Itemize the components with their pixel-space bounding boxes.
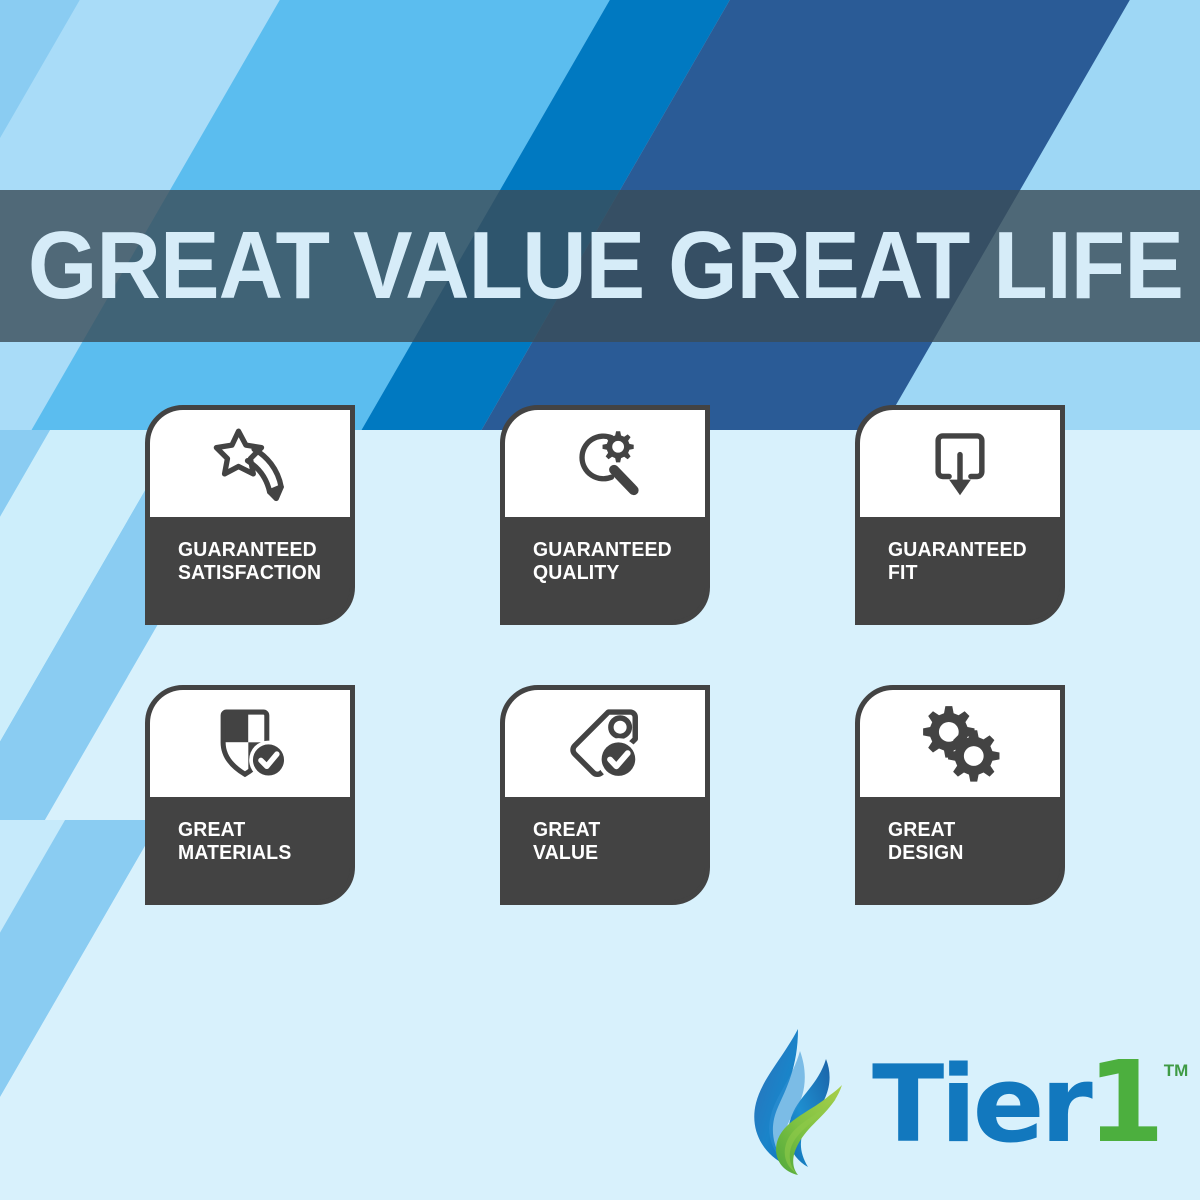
badge-label-panel: GUARANTEED FIT	[860, 517, 1060, 620]
badge-label-line-1: GREAT	[888, 819, 1055, 842]
magnifier-gear-icon	[564, 423, 646, 505]
badge-label-line-2: DESIGN	[888, 842, 1055, 865]
badge-icon-panel	[505, 410, 705, 517]
badge-great-design[interactable]: GREAT DESIGN	[855, 685, 1065, 905]
trademark-symbol: TM	[1164, 1061, 1189, 1081]
badge-guaranteed-satisfaction[interactable]: GUARANTEED SATISFACTION	[145, 405, 355, 625]
flame-leaf-icon	[738, 1023, 868, 1183]
badge-label-panel: GREAT VALUE	[505, 797, 705, 900]
badge-icon-panel	[860, 690, 1060, 797]
two-gears-icon	[917, 701, 1003, 787]
logo-wordmark: Tier 1 TM	[872, 1047, 1188, 1159]
badge-label-panel: GREAT MATERIALS	[150, 797, 350, 900]
badge-label-line-2: VALUE	[533, 842, 700, 865]
badge-guaranteed-fit[interactable]: GUARANTEED FIT	[855, 405, 1065, 625]
badge-label-line-1: GUARANTEED	[533, 539, 700, 562]
badge-label-line-2: SATISFACTION	[178, 562, 345, 585]
download-into-box-icon	[921, 425, 999, 503]
badge-label-panel: GREAT DESIGN	[860, 797, 1060, 900]
benefits-badge-grid: GUARANTEED SATISFACTION GU	[145, 405, 1065, 905]
tier1-logo[interactable]: Tier 1 TM	[738, 1022, 1168, 1184]
badge-label-line-1: GREAT	[178, 819, 345, 842]
page-title: GREAT VALUE GREAT LIFE	[0, 218, 1183, 314]
logo-brand-word: Tier	[872, 1052, 1089, 1158]
badge-great-materials[interactable]: GREAT MATERIALS	[145, 685, 355, 905]
poster-canvas: GREAT VALUE GREAT LIFE GUARANTEED SATISF…	[0, 0, 1200, 1200]
badge-label-panel: GUARANTEED SATISFACTION	[150, 517, 350, 620]
badge-great-value[interactable]: GREAT VALUE	[500, 685, 710, 905]
badge-label-line-2: MATERIALS	[178, 842, 345, 865]
badge-icon-panel	[150, 410, 350, 517]
badge-label-line-1: GUARANTEED	[888, 539, 1055, 562]
headline-banner: GREAT VALUE GREAT LIFE	[0, 190, 1200, 342]
badge-icon-panel	[860, 410, 1060, 517]
shooting-star-icon	[209, 423, 291, 505]
shield-check-icon	[208, 702, 292, 786]
badge-label-line-2: QUALITY	[533, 562, 700, 585]
badge-guaranteed-quality[interactable]: GUARANTEED QUALITY	[500, 405, 710, 625]
badge-label-line-1: GUARANTEED	[178, 539, 345, 562]
badge-icon-panel	[505, 690, 705, 797]
price-tag-check-icon	[563, 702, 647, 786]
badge-icon-panel	[150, 690, 350, 797]
badge-label-line-1: GREAT	[533, 819, 700, 842]
badge-label-panel: GUARANTEED QUALITY	[505, 517, 705, 620]
badge-label-line-2: FIT	[888, 562, 1055, 585]
logo-brand-number: 1	[1087, 1047, 1163, 1159]
